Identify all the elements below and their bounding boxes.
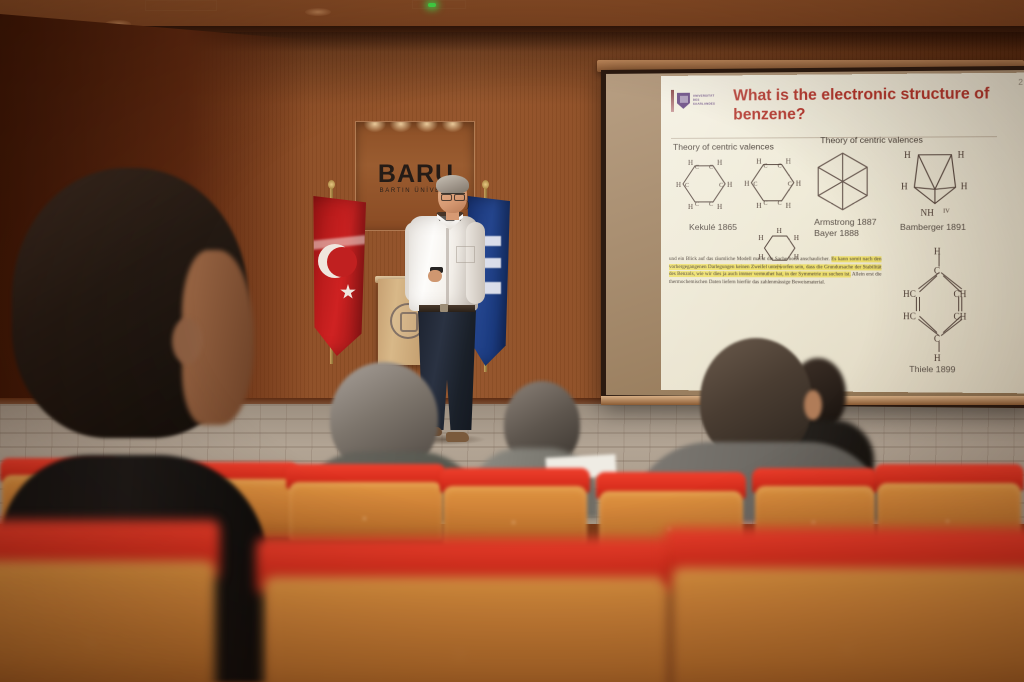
body-text-plain: und ein Blick auf das räumliche Modell m… (669, 256, 830, 262)
svg-text:C: C (685, 183, 689, 189)
crescent-icon (318, 244, 352, 278)
logo-bar (671, 90, 674, 112)
speaker-belt-buckle-icon (440, 304, 448, 312)
slide-page-number: 2 (1018, 78, 1023, 87)
bamberger-structure-icon: HH HH NH IV (898, 144, 972, 219)
svg-text:C: C (753, 182, 757, 188)
svg-text:H: H (758, 234, 763, 242)
svg-text:H: H (934, 246, 941, 256)
speaker-arm (466, 222, 485, 304)
audience-ear (804, 390, 822, 420)
svg-text:H: H (717, 159, 722, 167)
armstrong-bayer-structure-icon (810, 149, 875, 214)
university-logo: UNIVERSITÄT DES SAARLANDES (671, 90, 715, 112)
seat-back (289, 482, 443, 541)
green-indicator-led-icon (428, 3, 436, 7)
ceiling-vent-icon (145, 0, 217, 11)
svg-text:HC: HC (903, 311, 916, 321)
svg-text:H: H (961, 181, 968, 191)
svg-text:IV: IV (943, 209, 950, 215)
caption-bayer: Bayer 1888 (814, 228, 876, 239)
presentation-slide: 2 UNIVERSITÄT DES SAARLANDES What is the… (661, 73, 1024, 394)
caption-armstrong-bayer: Armstrong 1887 Bayer 1888 (814, 217, 876, 239)
svg-text:NH: NH (921, 208, 935, 218)
caption-kekule: Kekulé 1865 (689, 222, 737, 232)
svg-text:C: C (763, 201, 767, 207)
flag-finial-icon (482, 180, 489, 189)
caption-thiele: Thiele 1899 (909, 364, 955, 375)
auditorium-seat[interactable] (0, 520, 220, 682)
auditorium-seat[interactable] (664, 528, 1024, 682)
speaker-shirt-placket (446, 228, 449, 306)
svg-text:HC: HC (903, 289, 916, 299)
logo-line-3: SAARLANDES (693, 103, 715, 107)
crest-icon (677, 93, 690, 109)
svg-text:H: H (794, 234, 799, 242)
speaker-hair (436, 175, 469, 194)
svg-text:C: C (695, 202, 699, 208)
svg-text:H: H (796, 180, 801, 188)
sign-spotlights-icon (356, 122, 474, 152)
svg-text:C: C (934, 266, 940, 276)
svg-text:C: C (719, 183, 723, 189)
svg-text:H: H (904, 150, 911, 160)
ceiling-light-icon (305, 8, 331, 16)
svg-text:H: H (727, 181, 732, 189)
svg-text:CH: CH (954, 289, 967, 299)
svg-text:C: C (709, 165, 713, 171)
svg-text:H: H (676, 181, 681, 189)
caption-bamberger: Bamberger 1891 (900, 222, 966, 232)
speaker-hand (428, 270, 442, 282)
ceiling-vent-icon (412, 0, 466, 9)
svg-text:CH: CH (954, 311, 967, 321)
svg-text:H: H (717, 203, 722, 211)
seat-back (672, 568, 1024, 682)
svg-text:H: H (934, 353, 941, 363)
slide-subheading-right: Theory of centric valences (820, 135, 923, 146)
kekule-structure-2-icon: HH HH HH CC CC CC (743, 151, 806, 214)
svg-text:C: C (934, 334, 940, 344)
lecture-hall-photo: BARU BARTIN ÜNİVERS 2 (0, 0, 1024, 682)
slide-body-text: und ein Blick auf das räumliche Modell m… (669, 256, 882, 288)
star-icon (340, 284, 356, 300)
turkish-flag-icon (310, 196, 366, 356)
slide-title: What is the electronic structure of benz… (733, 85, 997, 125)
caption-armstrong: Armstrong 1887 (814, 217, 876, 228)
eyeglasses-icon (441, 193, 465, 199)
svg-text:C: C (709, 202, 713, 208)
auditorium-seat[interactable] (440, 468, 590, 542)
svg-text:C: C (695, 165, 699, 171)
svg-text:H: H (756, 202, 761, 210)
foreground-audience-ear (172, 318, 202, 364)
svg-text:C: C (788, 182, 792, 188)
auditorium-seat[interactable] (286, 464, 446, 538)
kekule-structure-1-icon: HH HH HH CC CC CC (675, 154, 737, 214)
svg-text:H: H (786, 202, 791, 210)
svg-text:H: H (756, 158, 761, 166)
svg-text:H: H (688, 159, 693, 167)
flag-finial-icon (328, 180, 335, 189)
speaker-shoe (446, 432, 469, 442)
svg-text:H: H (901, 181, 908, 191)
thiele-structure-icon: H C HCCH HCCH C H (902, 246, 976, 366)
speaker-shirt-pocket (456, 246, 475, 263)
seat-stud-icon (458, 655, 461, 658)
slide-subheading-left: Theory of centric valences (673, 141, 774, 152)
svg-text:C: C (763, 164, 767, 170)
svg-text:H: H (777, 227, 782, 235)
svg-text:H: H (786, 157, 791, 165)
auditorium-seat[interactable] (256, 538, 676, 682)
university-logo-text: UNIVERSITÄT DES SAARLANDES (693, 95, 715, 107)
svg-text:H: H (688, 203, 693, 211)
headset-microphone-icon (456, 200, 469, 210)
seat-back (0, 561, 215, 682)
seat-back (264, 577, 667, 682)
svg-text:H: H (744, 180, 749, 188)
svg-text:H: H (958, 150, 965, 160)
svg-text:C: C (778, 164, 782, 170)
svg-text:C: C (778, 201, 782, 207)
seat-back (443, 486, 587, 545)
